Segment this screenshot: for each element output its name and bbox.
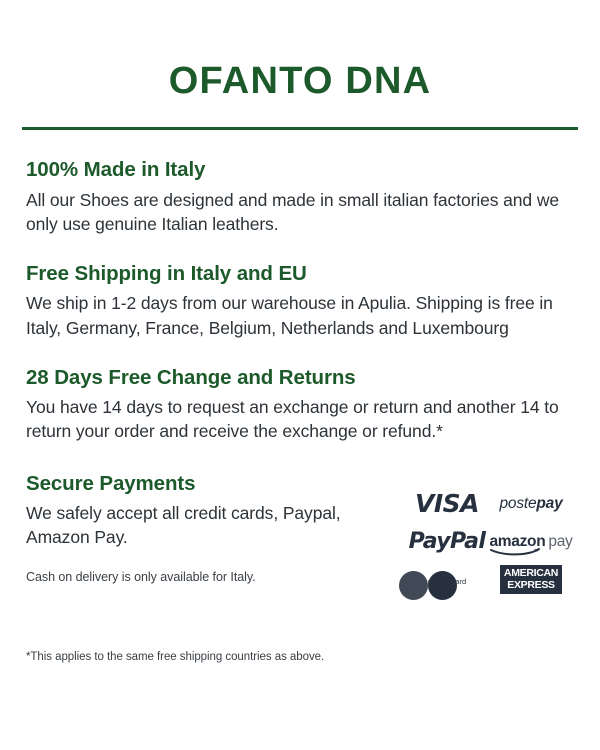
amazon-pay-icon: amazonpay	[489, 534, 572, 550]
american-express-logo-cell: AMERICAN EXPRESS	[488, 563, 574, 597]
title-divider	[22, 127, 578, 130]
payment-logo-row-1: VISA postepay	[406, 486, 574, 522]
page-title: OFANTO DNA	[0, 0, 600, 100]
payment-logo-row-3: mastercard AMERICAN EXPRESS	[406, 562, 574, 598]
section-body: We ship in 1-2 days from our warehouse i…	[26, 291, 578, 339]
section-heading: 100% Made in Italy	[26, 158, 578, 183]
american-express-icon: AMERICAN EXPRESS	[500, 565, 562, 594]
section-body: You have 14 days to request an exchange …	[26, 395, 578, 443]
visa-icon: VISA	[415, 489, 479, 518]
ofanto-dna-info-panel: OFANTO DNA 100% Made in Italy All our Sh…	[0, 0, 600, 750]
postepay-logo-cell: postepay	[488, 487, 574, 521]
section-body: We safely accept all credit cards, Paypa…	[26, 501, 406, 549]
section-heading: Secure Payments	[26, 472, 406, 497]
section-body: All our Shoes are designed and made in s…	[26, 188, 578, 236]
section-made-in-italy: 100% Made in Italy All our Shoes are des…	[26, 158, 578, 236]
amazon-pay-logo-cell: amazonpay	[488, 525, 574, 559]
section-heading: 28 Days Free Change and Returns	[26, 366, 578, 391]
payment-logo-row-2: PayPal amazonpay	[406, 524, 574, 560]
amazon-smile-arrow	[490, 548, 542, 556]
section-secure-payments: Secure Payments We safely accept all cre…	[26, 472, 578, 600]
section-returns: 28 Days Free Change and Returns You have…	[26, 366, 578, 444]
cash-on-delivery-note: Cash on delivery is only available for I…	[26, 569, 406, 587]
sections-container: 100% Made in Italy All our Shoes are des…	[0, 158, 600, 600]
footnote: *This applies to the same free shipping …	[26, 651, 324, 663]
paypal-logo-cell: PayPal	[406, 525, 488, 559]
payment-logos-grid: VISA postepay PayPal amazonpay	[406, 472, 574, 600]
paypal-icon: PayPal	[409, 529, 486, 554]
mastercard-icon: mastercard	[428, 571, 467, 589]
mastercard-logo-cell: mastercard	[406, 563, 488, 597]
payments-text-column: Secure Payments We safely accept all cre…	[26, 472, 406, 586]
section-free-shipping: Free Shipping in Italy and EU We ship in…	[26, 262, 578, 340]
postepay-icon: postepay	[499, 495, 562, 513]
visa-logo-cell: VISA	[406, 487, 488, 521]
section-heading: Free Shipping in Italy and EU	[26, 262, 578, 287]
